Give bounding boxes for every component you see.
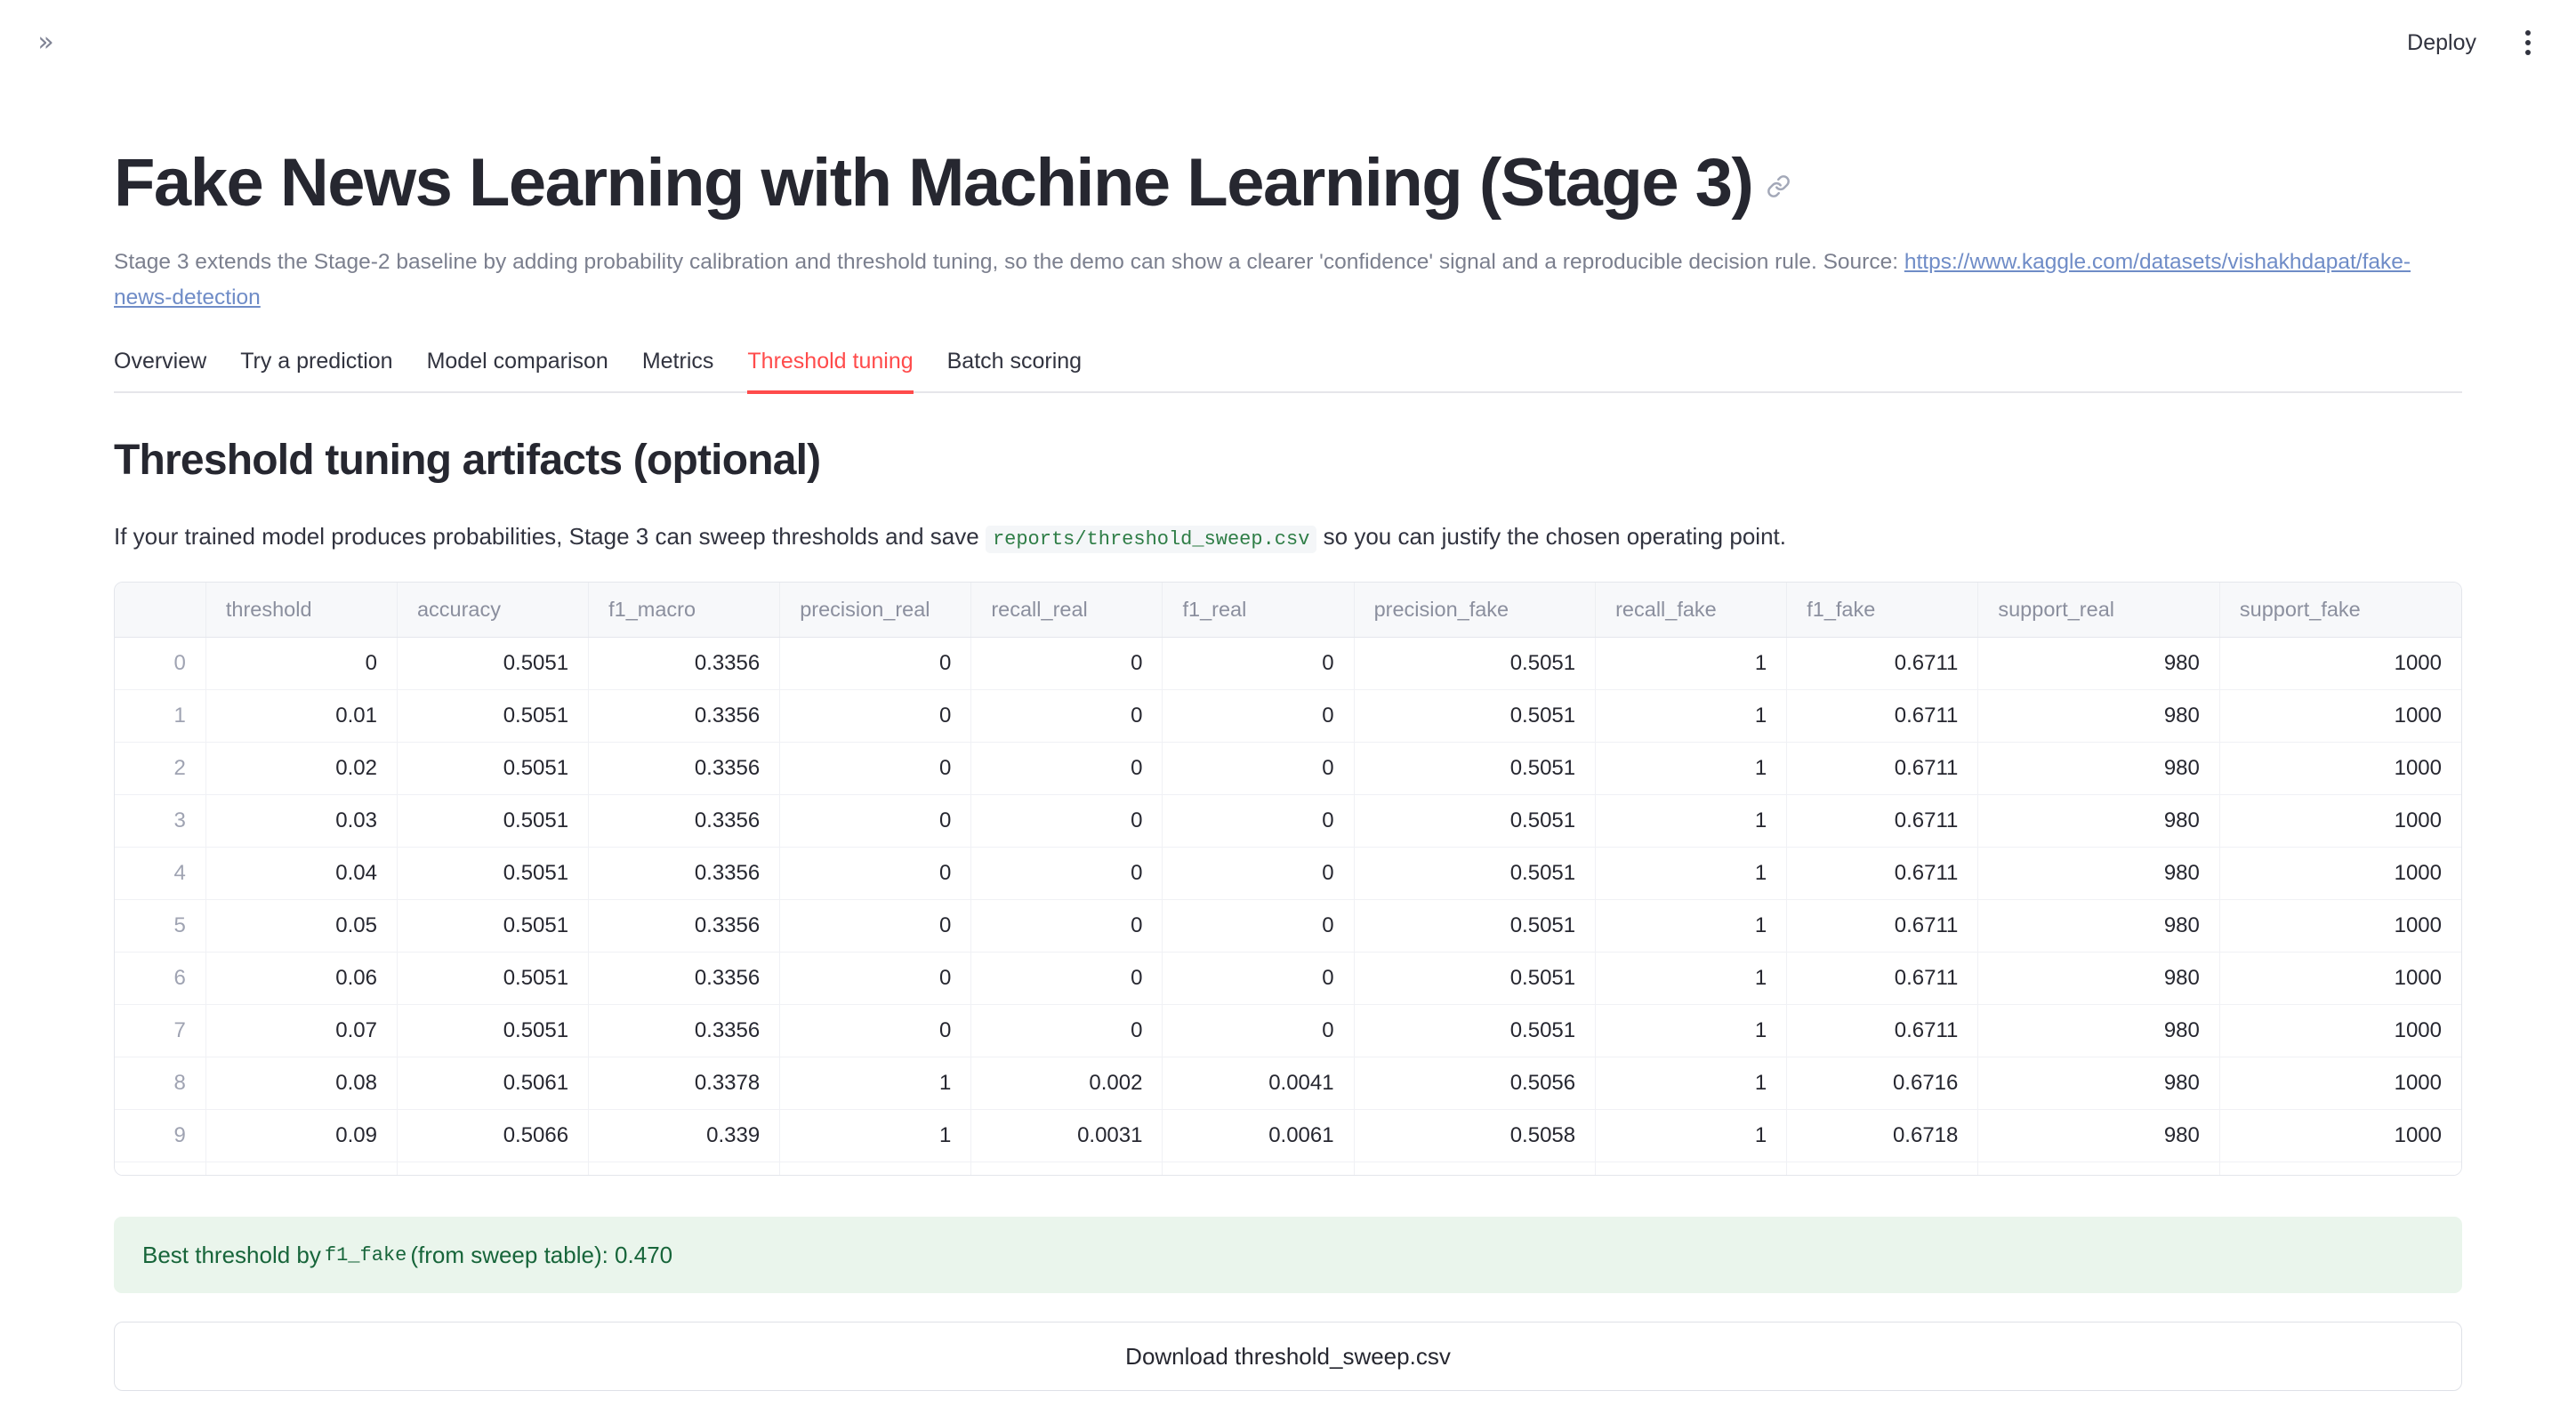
best-threshold-metric-code: f1_fake xyxy=(321,1244,410,1266)
table-cell-precision-real: 0 xyxy=(780,953,971,1005)
table-row[interactable]: 60.060.50510.33560000.505110.67119801000 xyxy=(115,953,2461,1005)
table-cell-partial xyxy=(780,1162,971,1177)
table-cell-threshold: 0.04 xyxy=(205,848,397,900)
table-col-recall-real[interactable]: recall_real xyxy=(971,583,1163,638)
table-cell-f1-real: 0 xyxy=(1163,900,1354,953)
table-row[interactable]: 20.020.50510.33560000.505110.67119801000 xyxy=(115,743,2461,795)
tab-try-a-prediction[interactable]: Try a prediction xyxy=(240,349,392,394)
table-cell-accuracy: 0.5051 xyxy=(397,638,588,690)
table-cell-accuracy: 0.5066 xyxy=(397,1110,588,1162)
table-cell-support-fake: 1000 xyxy=(2219,953,2461,1005)
page-description-text: Stage 3 extends the Stage-2 baseline by … xyxy=(114,250,1904,274)
table-row[interactable]: 50.050.50510.33560000.505110.67119801000 xyxy=(115,900,2461,953)
table-col-index[interactable] xyxy=(115,583,205,638)
page-description: Stage 3 extends the Stage-2 baseline by … xyxy=(114,245,2462,314)
table-cell-support-real: 980 xyxy=(1978,690,2220,743)
table-cell-accuracy: 0.5051 xyxy=(397,848,588,900)
page-title: Fake News Learning with Machine Learning… xyxy=(114,85,2462,221)
table-cell-partial xyxy=(1354,1162,1596,1177)
table-col-f1-macro[interactable]: f1_macro xyxy=(589,583,780,638)
table-cell-f1-real: 0.0041 xyxy=(1163,1057,1354,1110)
table-cell-f1-fake: 0.6711 xyxy=(1787,795,1978,848)
table-cell-f1-macro: 0.339 xyxy=(589,1110,780,1162)
table-cell-accuracy: 0.5051 xyxy=(397,690,588,743)
table-cell-partial xyxy=(1163,1162,1354,1177)
kebab-menu-icon[interactable] xyxy=(2512,23,2544,62)
table-cell-precision-fake: 0.5051 xyxy=(1354,953,1596,1005)
tab-threshold-tuning[interactable]: Threshold tuning xyxy=(747,349,913,394)
tab-overview[interactable]: Overview xyxy=(114,349,206,394)
table-cell-partial xyxy=(1787,1162,1978,1177)
table-cell-recall-real: 0 xyxy=(971,848,1163,900)
best-threshold-banner: Best threshold by f1_fake (from sweep ta… xyxy=(114,1217,2462,1293)
top-bar: » Deploy xyxy=(0,0,2576,85)
table-cell-partial xyxy=(1596,1162,1787,1177)
table-cell-support-fake: 1000 xyxy=(2219,848,2461,900)
table-col-precision-real[interactable]: precision_real xyxy=(780,583,971,638)
table-col-f1-real[interactable]: f1_real xyxy=(1163,583,1354,638)
table-cell-partial xyxy=(397,1162,588,1177)
table-row-index: 4 xyxy=(115,848,205,900)
table-cell-accuracy: 0.5051 xyxy=(397,1005,588,1057)
table-cell-support-fake: 1000 xyxy=(2219,795,2461,848)
table-cell-f1-fake: 0.6716 xyxy=(1787,1057,1978,1110)
table-cell-support-real: 980 xyxy=(1978,795,2220,848)
table-cell-support-fake: 1000 xyxy=(2219,1057,2461,1110)
table-cell-precision-fake: 0.5051 xyxy=(1354,1005,1596,1057)
table-cell-support-real: 980 xyxy=(1978,848,2220,900)
best-threshold-text-before: Best threshold by xyxy=(142,1242,321,1269)
table-cell-precision-real: 1 xyxy=(780,1110,971,1162)
content-container: Fake News Learning with Machine Learning… xyxy=(114,85,2462,1391)
table-col-accuracy[interactable]: accuracy xyxy=(397,583,588,638)
section-title: Threshold tuning artifacts (optional) xyxy=(114,436,2462,485)
table-cell-threshold: 0.09 xyxy=(205,1110,397,1162)
table-col-recall-fake[interactable]: recall_fake xyxy=(1596,583,1787,638)
table-cell-f1-fake: 0.6711 xyxy=(1787,690,1978,743)
table-cell-precision-fake: 0.5051 xyxy=(1354,795,1596,848)
section-description-after: so you can justify the chosen operating … xyxy=(1324,523,1786,550)
table-cell-f1-macro: 0.3356 xyxy=(589,795,780,848)
table-col-threshold[interactable]: threshold xyxy=(205,583,397,638)
table-row-index: 1 xyxy=(115,690,205,743)
table-cell-precision-fake: 0.5058 xyxy=(1354,1110,1596,1162)
table-cell-accuracy: 0.5051 xyxy=(397,743,588,795)
threshold-sweep-table: threshold accuracy f1_macro precision_re… xyxy=(115,583,2461,1176)
page-title-text: Fake News Learning with Machine Learning… xyxy=(114,144,1752,221)
table-cell-recall-fake: 1 xyxy=(1596,690,1787,743)
table-cell-support-fake: 1000 xyxy=(2219,690,2461,743)
table-cell-f1-real: 0 xyxy=(1163,1005,1354,1057)
threshold-sweep-path-code: reports/threshold_sweep.csv xyxy=(986,526,1316,553)
table-row[interactable]: 70.070.50510.33560000.505110.67119801000 xyxy=(115,1005,2461,1057)
table-cell-recall-fake: 1 xyxy=(1596,795,1787,848)
table-cell-recall-fake: 1 xyxy=(1596,900,1787,953)
table-row-index: 8 xyxy=(115,1057,205,1110)
table-cell-recall-fake: 1 xyxy=(1596,638,1787,690)
table-cell-f1-real: 0 xyxy=(1163,743,1354,795)
table-col-support-fake[interactable]: support_fake xyxy=(2219,583,2461,638)
kebab-dot xyxy=(2525,30,2531,36)
table-cell-partial xyxy=(589,1162,780,1177)
table-cell-recall-fake: 1 xyxy=(1596,848,1787,900)
table-cell-threshold: 0.01 xyxy=(205,690,397,743)
table-row-partial[interactable] xyxy=(115,1162,2461,1177)
table-cell-recall-real: 0.002 xyxy=(971,1057,1163,1110)
table-cell-recall-real: 0 xyxy=(971,743,1163,795)
table-cell-f1-macro: 0.3356 xyxy=(589,900,780,953)
table-cell-support-real: 980 xyxy=(1978,1005,2220,1057)
threshold-sweep-table-container[interactable]: threshold accuracy f1_macro precision_re… xyxy=(114,582,2462,1176)
table-cell-threshold: 0 xyxy=(205,638,397,690)
table-col-precision-fake[interactable]: precision_fake xyxy=(1354,583,1596,638)
table-cell-support-fake: 1000 xyxy=(2219,638,2461,690)
table-row-index: 6 xyxy=(115,953,205,1005)
table-cell-precision-real: 0 xyxy=(780,848,971,900)
kebab-dot xyxy=(2525,40,2531,45)
section-description: If your trained model produces probabili… xyxy=(114,519,2462,556)
table-cell-f1-real: 0 xyxy=(1163,690,1354,743)
table-cell-recall-fake: 1 xyxy=(1596,1057,1787,1110)
expand-sidebar-icon[interactable]: » xyxy=(25,23,64,62)
table-cell-recall-fake: 1 xyxy=(1596,953,1787,1005)
table-cell-recall-real: 0.0031 xyxy=(971,1110,1163,1162)
tab-metrics[interactable]: Metrics xyxy=(642,349,714,394)
top-bar-actions: Deploy xyxy=(2395,21,2544,65)
best-threshold-text-after: (from sweep table): 0.470 xyxy=(410,1242,672,1269)
table-cell-support-real: 980 xyxy=(1978,638,2220,690)
table-cell-f1-macro: 0.3378 xyxy=(589,1057,780,1110)
table-cell-partial xyxy=(205,1162,397,1177)
table-cell-precision-fake: 0.5056 xyxy=(1354,1057,1596,1110)
table-header-row: threshold accuracy f1_macro precision_re… xyxy=(115,583,2461,638)
table-cell-support-real: 980 xyxy=(1978,743,2220,795)
table-cell-precision-real: 0 xyxy=(780,743,971,795)
table-row[interactable]: 90.090.50660.33910.00310.00610.505810.67… xyxy=(115,1110,2461,1162)
table-cell-recall-fake: 1 xyxy=(1596,1005,1787,1057)
link-icon[interactable] xyxy=(1767,174,1791,198)
table-cell-threshold: 0.07 xyxy=(205,1005,397,1057)
table-cell-support-real: 980 xyxy=(1978,1057,2220,1110)
table-cell-f1-fake: 0.6711 xyxy=(1787,848,1978,900)
table-row-index: 0 xyxy=(115,638,205,690)
table-cell-f1-fake: 0.6711 xyxy=(1787,900,1978,953)
table-cell-precision-real: 0 xyxy=(780,900,971,953)
table-cell-precision-real: 1 xyxy=(780,1057,971,1110)
table-cell-f1-macro: 0.3356 xyxy=(589,1005,780,1057)
table-cell-accuracy: 0.5051 xyxy=(397,795,588,848)
download-threshold-sweep-button[interactable]: Download threshold_sweep.csv xyxy=(114,1322,2462,1391)
table-row-index: 7 xyxy=(115,1005,205,1057)
table-cell-recall-fake: 1 xyxy=(1596,743,1787,795)
table-cell-threshold: 0.08 xyxy=(205,1057,397,1110)
table-cell-recall-real: 0 xyxy=(971,1005,1163,1057)
table-row[interactable]: 30.030.50510.33560000.505110.67119801000 xyxy=(115,795,2461,848)
table-cell-precision-fake: 0.5051 xyxy=(1354,848,1596,900)
table-cell-recall-fake: 1 xyxy=(1596,1110,1787,1162)
table-cell-threshold: 0.02 xyxy=(205,743,397,795)
table-cell-precision-fake: 0.5051 xyxy=(1354,690,1596,743)
tab-batch-scoring[interactable]: Batch scoring xyxy=(947,349,1082,394)
table-cell-recall-real: 0 xyxy=(971,690,1163,743)
table-cell-support-real: 980 xyxy=(1978,1110,2220,1162)
table-cell-precision-real: 0 xyxy=(780,638,971,690)
table-cell-recall-real: 0 xyxy=(971,900,1163,953)
table-row[interactable]: 40.040.50510.33560000.505110.67119801000 xyxy=(115,848,2461,900)
table-cell-f1-real: 0.0061 xyxy=(1163,1110,1354,1162)
table-row[interactable]: 10.010.50510.33560000.505110.67119801000 xyxy=(115,690,2461,743)
table-cell-partial xyxy=(115,1162,205,1177)
table-cell-f1-macro: 0.3356 xyxy=(589,848,780,900)
table-cell-threshold: 0.06 xyxy=(205,953,397,1005)
table-cell-support-fake: 1000 xyxy=(2219,1005,2461,1057)
tab-model-comparison[interactable]: Model comparison xyxy=(427,349,608,394)
table-cell-f1-macro: 0.3356 xyxy=(589,953,780,1005)
tab-bar: Overview Try a prediction Model comparis… xyxy=(114,349,2462,393)
table-cell-f1-fake: 0.6711 xyxy=(1787,1005,1978,1057)
table-cell-recall-real: 0 xyxy=(971,953,1163,1005)
table-cell-accuracy: 0.5061 xyxy=(397,1057,588,1110)
table-cell-threshold: 0.03 xyxy=(205,795,397,848)
page-body: Fake News Learning with Machine Learning… xyxy=(0,85,2576,1391)
table-cell-partial xyxy=(971,1162,1163,1177)
kebab-dot xyxy=(2525,50,2531,55)
table-cell-partial xyxy=(1978,1162,2220,1177)
table-cell-f1-fake: 0.6711 xyxy=(1787,743,1978,795)
table-cell-precision-fake: 0.5051 xyxy=(1354,743,1596,795)
table-cell-precision-fake: 0.5051 xyxy=(1354,900,1596,953)
table-cell-f1-real: 0 xyxy=(1163,953,1354,1005)
table-cell-threshold: 0.05 xyxy=(205,900,397,953)
table-cell-f1-macro: 0.3356 xyxy=(589,638,780,690)
table-cell-f1-fake: 0.6718 xyxy=(1787,1110,1978,1162)
table-col-support-real[interactable]: support_real xyxy=(1978,583,2220,638)
deploy-button[interactable]: Deploy xyxy=(2395,21,2489,65)
table-cell-f1-real: 0 xyxy=(1163,795,1354,848)
table-row[interactable]: 80.080.50610.337810.0020.00410.505610.67… xyxy=(115,1057,2461,1110)
table-row-index: 9 xyxy=(115,1110,205,1162)
table-cell-precision-real: 0 xyxy=(780,1005,971,1057)
table-cell-support-fake: 1000 xyxy=(2219,1110,2461,1162)
table-col-f1-fake[interactable]: f1_fake xyxy=(1787,583,1978,638)
table-row-index: 2 xyxy=(115,743,205,795)
table-cell-support-real: 980 xyxy=(1978,900,2220,953)
table-cell-accuracy: 0.5051 xyxy=(397,953,588,1005)
table-cell-precision-real: 0 xyxy=(780,690,971,743)
table-body: 000.50510.33560000.505110.6711980100010.… xyxy=(115,638,2461,1177)
table-cell-support-fake: 1000 xyxy=(2219,900,2461,953)
table-cell-f1-fake: 0.6711 xyxy=(1787,953,1978,1005)
table-cell-recall-real: 0 xyxy=(971,795,1163,848)
table-cell-f1-macro: 0.3356 xyxy=(589,690,780,743)
table-cell-support-real: 980 xyxy=(1978,953,2220,1005)
table-cell-precision-real: 0 xyxy=(780,795,971,848)
table-row-index: 5 xyxy=(115,900,205,953)
table-cell-precision-fake: 0.5051 xyxy=(1354,638,1596,690)
section-description-before: If your trained model produces probabili… xyxy=(114,523,979,550)
table-row-index: 3 xyxy=(115,795,205,848)
table-header: threshold accuracy f1_macro precision_re… xyxy=(115,583,2461,638)
table-cell-f1-real: 0 xyxy=(1163,848,1354,900)
table-cell-f1-macro: 0.3356 xyxy=(589,743,780,795)
table-cell-f1-fake: 0.6711 xyxy=(1787,638,1978,690)
table-row[interactable]: 000.50510.33560000.505110.67119801000 xyxy=(115,638,2461,690)
table-cell-accuracy: 0.5051 xyxy=(397,900,588,953)
table-cell-support-fake: 1000 xyxy=(2219,743,2461,795)
table-cell-f1-real: 0 xyxy=(1163,638,1354,690)
table-cell-recall-real: 0 xyxy=(971,638,1163,690)
table-cell-partial xyxy=(2219,1162,2461,1177)
